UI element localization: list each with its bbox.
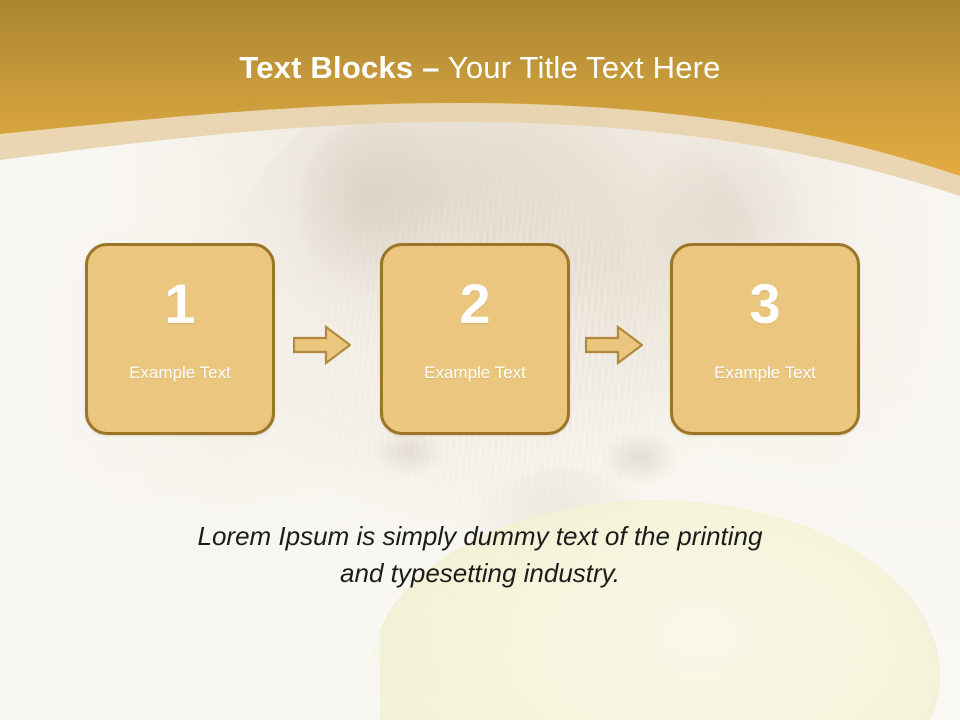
page-title-strong: Text Blocks – (239, 50, 439, 85)
step-label-2: Example Text (383, 363, 567, 383)
step-box-3[interactable]: 3 Example Text (670, 243, 860, 435)
step-number-2: 2 (383, 276, 567, 332)
step-number-3: 3 (673, 276, 857, 332)
page-title: Text Blocks – Your Title Text Here (0, 50, 960, 86)
step-number-1: 1 (88, 276, 272, 332)
arrow-right-icon-1 (293, 325, 351, 365)
step-box-1[interactable]: 1 Example Text (85, 243, 275, 435)
step-box-2[interactable]: 2 Example Text (380, 243, 570, 435)
header-banner (0, 0, 960, 210)
arrow-right-icon-2 (585, 325, 643, 365)
step-blocks-group: 1 Example Text 2 Example Text 3 Example … (85, 243, 875, 435)
step-label-3: Example Text (673, 363, 857, 383)
slide-canvas: Text Blocks – Your Title Text Here 1 Exa… (0, 0, 960, 720)
caption-line-1: Lorem Ipsum is simply dummy text of the … (110, 518, 850, 555)
caption-line-2: and typesetting industry. (110, 555, 850, 592)
caption-text: Lorem Ipsum is simply dummy text of the … (110, 518, 850, 592)
step-label-1: Example Text (88, 363, 272, 383)
page-title-light: Your Title Text Here (440, 50, 721, 85)
